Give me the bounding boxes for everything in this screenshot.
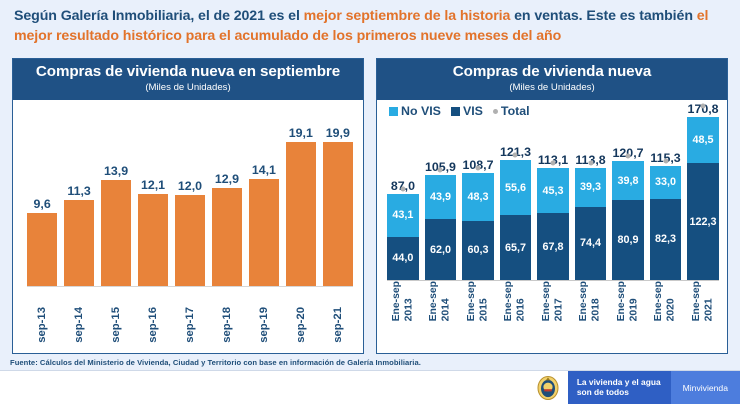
chart-panel-left: Compras de vivienda nueva en septiembre …	[12, 58, 364, 354]
right-bar-segment-vis: 74,4	[575, 207, 607, 281]
right-x-tick: Ene-sep 2013	[387, 281, 419, 343]
right-bar-stack: 48,360,3	[462, 173, 494, 280]
footer-bar: La vivienda y el agua son de todos Minvi…	[0, 370, 740, 404]
right-bar-stack: 33,082,3	[650, 166, 682, 280]
footer-ministry-label: Minvivienda	[671, 371, 740, 404]
right-bar-stack: 43,144,0	[387, 194, 419, 280]
total-marker-dot	[400, 187, 405, 192]
left-chart-title: Compras de vivienda nueva en septiembre	[17, 64, 359, 81]
government-branding-strip: La vivienda y el agua son de todos Minvi…	[528, 371, 740, 404]
right-bar-stack: 43,962,0	[425, 175, 457, 280]
left-bar	[138, 194, 168, 286]
right-bar-segment-novis: 39,3	[575, 168, 607, 207]
right-bar-column: 170,848,5122,3	[687, 102, 719, 280]
left-bar-column: 12,9	[212, 126, 242, 286]
left-bar-value-label: 19,9	[326, 126, 350, 140]
right-bar-stack: 55,665,7	[500, 160, 532, 280]
left-x-tick: sep-15	[101, 287, 131, 343]
chart-panel-right: Compras de vivienda nueva (Miles de Unid…	[376, 58, 728, 354]
footer-tagline: La vivienda y el agua son de todos	[568, 371, 671, 404]
headline-text-2: en ventas. Este es también	[510, 8, 696, 24]
left-chart-plot-area: 9,611,313,912,112,012,914,119,119,9 sep-…	[13, 100, 363, 345]
right-bar-segment-vis: 44,0	[387, 237, 419, 280]
right-x-tick: Ene-sep 2019	[612, 281, 644, 343]
right-bar-segment-novis: 43,1	[387, 194, 419, 237]
right-chart-title: Compras de vivienda nueva	[381, 64, 723, 81]
left-bar	[101, 180, 131, 286]
total-marker-dot	[663, 159, 668, 164]
left-chart-bars: 9,611,313,912,112,012,914,119,119,9	[27, 126, 353, 286]
right-chart-header: Compras de vivienda nueva (Miles de Unid…	[377, 59, 727, 100]
right-bar-column: 120,739,880,9	[612, 102, 644, 280]
left-bar-column: 19,9	[323, 126, 353, 286]
left-bar-column: 12,0	[175, 126, 205, 286]
left-bar-column: 12,1	[138, 126, 168, 286]
total-marker-dot	[513, 153, 518, 158]
left-bar-column: 13,9	[101, 126, 131, 286]
right-x-tick: Ene-sep 2015	[462, 281, 494, 343]
left-bar-column: 9,6	[27, 126, 57, 286]
left-x-tick: sep-18	[212, 287, 242, 343]
right-bar-segment-novis: 48,5	[687, 117, 719, 163]
right-bar-segment-novis: 55,6	[500, 160, 532, 215]
right-bar-segment-vis: 65,7	[500, 215, 532, 280]
left-x-tick: sep-13	[27, 287, 57, 343]
left-bar-value-label: 12,1	[141, 178, 165, 192]
right-bar-column: 113,839,374,4	[575, 102, 607, 280]
left-x-tick: sep-21	[323, 287, 353, 343]
right-bar-column: 113,145,367,8	[537, 102, 569, 280]
left-chart-x-axis-labels: sep-13sep-14sep-15sep-16sep-17sep-18sep-…	[27, 287, 353, 343]
right-bar-segment-novis: 45,3	[537, 168, 569, 213]
right-x-tick: Ene-sep 2020	[650, 281, 682, 343]
right-bar-column: 105,943,962,0	[425, 102, 457, 280]
left-bar	[212, 188, 242, 286]
headline-text-1: Según Galería Inmobiliaria, el de 2021 e…	[14, 8, 304, 24]
right-bar-segment-vis: 60,3	[462, 221, 494, 281]
left-bar-value-label: 13,9	[104, 164, 128, 178]
left-chart-subtitle: (Miles de Unidades)	[17, 82, 359, 94]
left-x-tick: sep-17	[175, 287, 205, 343]
left-bar-column: 14,1	[249, 126, 279, 286]
right-bar-segment-vis: 67,8	[537, 213, 569, 280]
left-bar-column: 19,1	[286, 126, 316, 286]
left-bar-value-label: 12,9	[215, 172, 239, 186]
left-bar-value-label: 12,0	[178, 179, 202, 193]
total-marker-dot	[701, 104, 706, 109]
colombia-coat-of-arms-icon	[528, 371, 568, 404]
left-bar-value-label: 19,1	[289, 126, 313, 140]
total-marker-dot	[626, 153, 631, 158]
right-bar-segment-vis: 122,3	[687, 163, 719, 280]
right-bar-stack: 45,367,8	[537, 168, 569, 280]
right-bar-column: 115,333,082,3	[650, 102, 682, 280]
right-bar-stack: 39,880,9	[612, 161, 644, 280]
left-bar	[175, 195, 205, 286]
total-marker-dot	[475, 165, 480, 170]
source-note: Fuente: Cálculos del Ministerio de Vivie…	[10, 358, 421, 367]
total-marker-dot	[588, 160, 593, 165]
right-bar-column: 121,355,665,7	[500, 102, 532, 280]
right-chart-subtitle: (Miles de Unidades)	[381, 82, 723, 94]
right-bar-segment-vis: 82,3	[650, 199, 682, 280]
headline-highlight-1: mejor septiembre de la historia	[304, 8, 511, 24]
right-bar-segment-novis: 39,8	[612, 161, 644, 200]
right-x-tick: Ene-sep 2014	[425, 281, 457, 343]
left-chart-header: Compras de vivienda nueva en septiembre …	[13, 59, 363, 100]
total-marker-dot	[438, 168, 443, 173]
left-x-tick: sep-20	[286, 287, 316, 343]
left-bar	[286, 142, 316, 286]
right-x-tick: Ene-sep 2017	[537, 281, 569, 343]
left-bar	[27, 213, 57, 286]
right-bar-segment-novis: 33,0	[650, 166, 682, 199]
right-x-tick: Ene-sep 2016	[500, 281, 532, 343]
left-bar	[323, 142, 353, 286]
headline-banner: Según Galería Inmobiliaria, el de 2021 e…	[0, 0, 740, 52]
left-x-tick: sep-14	[64, 287, 94, 343]
right-bar-segment-vis: 62,0	[425, 219, 457, 280]
right-x-tick: Ene-sep 2018	[575, 281, 607, 343]
right-bar-column: 108,748,360,3	[462, 102, 494, 280]
total-marker-dot	[550, 161, 555, 166]
right-x-tick: Ene-sep 2021	[687, 281, 719, 343]
right-bar-segment-novis: 48,3	[462, 173, 494, 221]
left-bar-value-label: 11,3	[67, 184, 90, 198]
right-chart-x-axis-labels: Ene-sep 2013Ene-sep 2014Ene-sep 2015Ene-…	[387, 281, 719, 343]
right-bar-stack: 39,374,4	[575, 168, 607, 281]
right-bar-segment-vis: 80,9	[612, 200, 644, 280]
right-bar-column: 87,043,144,0	[387, 102, 419, 280]
left-bar-value-label: 14,1	[252, 163, 276, 177]
right-chart-plot-area: No VISVISTotal 87,043,144,0105,943,962,0…	[377, 100, 727, 345]
right-chart-bars: 87,043,144,0105,943,962,0108,748,360,312…	[387, 102, 719, 280]
left-x-tick: sep-19	[249, 287, 279, 343]
right-bar-segment-novis: 43,9	[425, 175, 457, 218]
left-bar	[249, 179, 279, 286]
left-x-tick: sep-16	[138, 287, 168, 343]
right-bar-stack: 48,5122,3	[687, 117, 719, 280]
left-bar-column: 11,3	[64, 126, 94, 286]
left-bar	[64, 200, 94, 286]
left-bar-value-label: 9,6	[34, 197, 51, 211]
